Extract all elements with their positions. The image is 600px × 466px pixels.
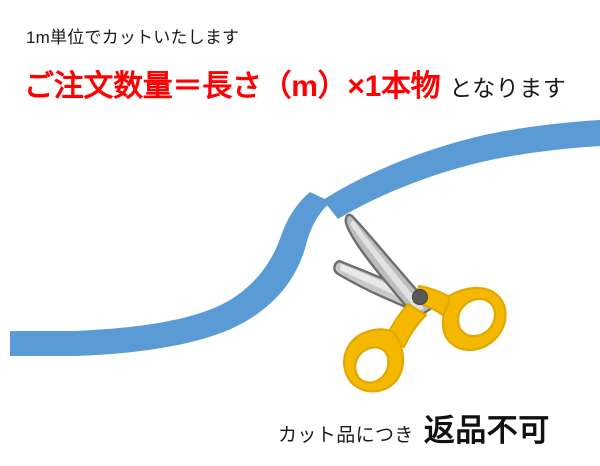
cut-unit-notice: 1m単位でカットいたします	[26, 29, 239, 48]
order-formula-tail: となります	[440, 75, 566, 101]
cable-left-segment	[10, 192, 331, 356]
handle-loop-lower-left	[344, 329, 403, 391]
slide-canvas: 1m単位でカットいたします ご注文数量＝長さ（m）×1本物となります カット品に…	[0, 0, 600, 466]
cable-right-segment	[323, 120, 600, 219]
order-formula-emphasis: ご注文数量＝長さ（m）×1本物	[24, 70, 440, 103]
handle-loop-upper-right	[443, 288, 506, 350]
no-return-notice: カット品につき返品不可	[278, 414, 550, 448]
no-return-lead: カット品につき	[278, 425, 414, 446]
order-formula-notice: ご注文数量＝長さ（m）×1本物となります	[24, 70, 566, 103]
pivot-screw	[413, 290, 428, 305]
scissors	[334, 215, 505, 392]
no-return-strong: 返品不可	[414, 413, 550, 448]
